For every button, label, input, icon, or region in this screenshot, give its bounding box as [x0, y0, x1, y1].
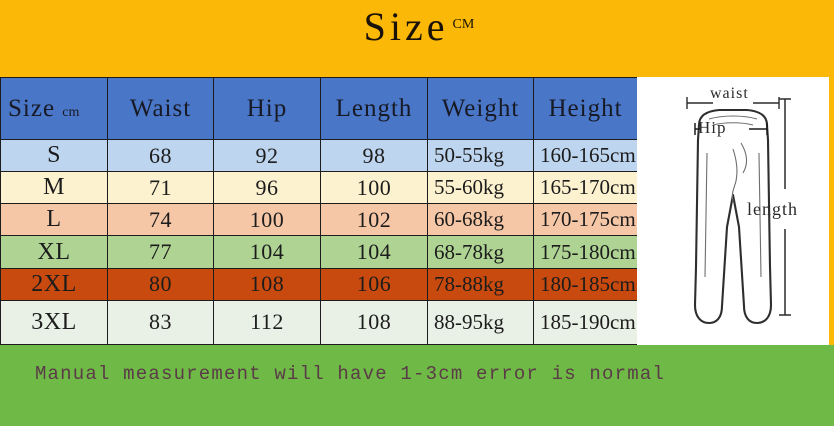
size-table: Size cm Waist Hip Length Weight Height S…: [0, 77, 638, 345]
cell-hip: 96: [214, 172, 321, 204]
length-label: length: [747, 199, 798, 220]
measurement-disclaimer-text: Manual measurement will have 1-3cm error…: [0, 362, 700, 386]
cell-weight: 68-78kg: [428, 236, 534, 268]
cell-weight: 55-60kg: [428, 172, 534, 204]
cell-length: 102: [321, 204, 428, 236]
cell-waist: 83: [108, 300, 214, 344]
column-header-weight: Weight: [428, 78, 534, 140]
cell-height: 165-170cm: [534, 172, 638, 204]
cell-weight: 78-88kg: [428, 268, 534, 300]
table-row: S 68 92 98 50-55kg 160-165cm: [1, 140, 638, 172]
title-banner: SizeCM: [0, 0, 834, 77]
cell-size: 2XL: [1, 268, 108, 300]
cell-hip: 104: [214, 236, 321, 268]
cell-size: 3XL: [1, 300, 108, 344]
cell-waist: 68: [108, 140, 214, 172]
cell-height: 185-190cm: [534, 300, 638, 344]
cell-hip: 100: [214, 204, 321, 236]
cell-height: 180-185cm: [534, 268, 638, 300]
cell-waist: 80: [108, 268, 214, 300]
pants-illustration-svg: [637, 77, 829, 345]
column-header-size-unit: cm: [62, 105, 79, 120]
cell-length: 106: [321, 268, 428, 300]
pants-measurement-diagram: waist Hip length: [637, 77, 829, 345]
cell-weight: 50-55kg: [428, 140, 534, 172]
table-header-row: Size cm Waist Hip Length Weight Height: [1, 78, 638, 140]
cell-hip: 108: [214, 268, 321, 300]
table-row: L 74 100 102 60-68kg 170-175cm: [1, 204, 638, 236]
cell-size: M: [1, 172, 108, 204]
column-header-size-label: Size: [8, 95, 55, 122]
column-header-height: Height: [534, 78, 638, 140]
cell-height: 170-175cm: [534, 204, 638, 236]
cell-waist: 77: [108, 236, 214, 268]
table-row: XL 77 104 104 68-78kg 175-180cm: [1, 236, 638, 268]
table-row: M 71 96 100 55-60kg 165-170cm: [1, 172, 638, 204]
cell-waist: 71: [108, 172, 214, 204]
cell-height: 175-180cm: [534, 236, 638, 268]
column-header-length: Length: [321, 78, 428, 140]
cell-hip: 112: [214, 300, 321, 344]
page-title-unit: CM: [453, 17, 475, 32]
cell-weight: 60-68kg: [428, 204, 534, 236]
hip-label: Hip: [698, 118, 727, 138]
column-header-hip: Hip: [214, 78, 321, 140]
column-header-size: Size cm: [1, 78, 108, 140]
cell-height: 160-165cm: [534, 140, 638, 172]
column-header-waist: Waist: [108, 78, 214, 140]
table-row: 2XL 80 108 106 78-88kg 180-185cm: [1, 268, 638, 300]
cell-length: 104: [321, 236, 428, 268]
cell-hip: 92: [214, 140, 321, 172]
cell-length: 100: [321, 172, 428, 204]
cell-size: S: [1, 140, 108, 172]
waist-label: waist: [710, 85, 749, 103]
page-title-text: Size: [364, 4, 449, 49]
cell-waist: 74: [108, 204, 214, 236]
cell-weight: 88-95kg: [428, 300, 534, 344]
table-row: 3XL 83 112 108 88-95kg 185-190cm: [1, 300, 638, 344]
cell-size: XL: [1, 236, 108, 268]
cell-size: L: [1, 204, 108, 236]
disclaimer-banner: Manual measurement will have 1-3cm error…: [0, 345, 834, 426]
page-title: SizeCM: [0, 4, 834, 50]
size-chart-page: SizeCM Size cm Waist Hip Length Weight H…: [0, 0, 834, 426]
cell-length: 98: [321, 140, 428, 172]
cell-length: 108: [321, 300, 428, 344]
